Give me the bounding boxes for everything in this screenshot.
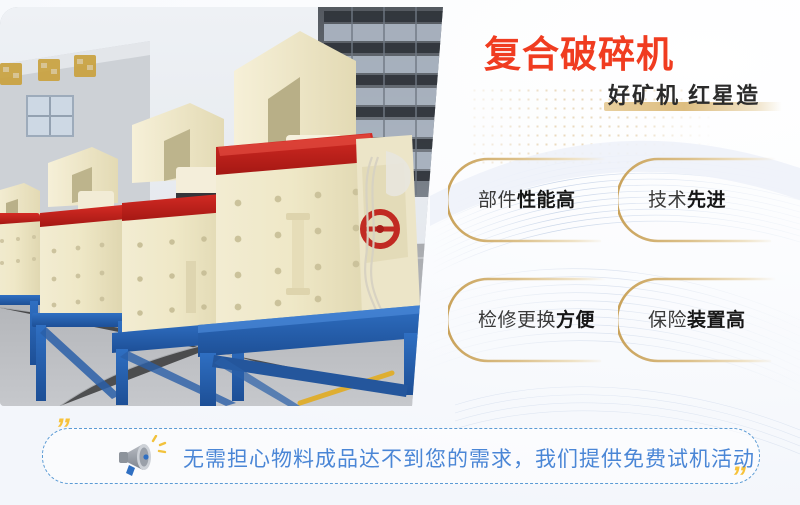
feature-label-3: 检修更换方便 [478,305,595,332]
product-photo [0,7,447,406]
feature-item-4[interactable]: 保险装置高 [618,276,783,364]
quote-open-icon: ” [55,415,68,445]
feature-prefix-4: 保险 [648,310,687,331]
promo-banner-stage: 复合破碎机 好矿机 红星造 部件性能高 [0,0,800,505]
feature-label-2: 技术先进 [648,185,726,212]
feature-label-1: 部件性能高 [478,185,576,212]
page-subtitle: 好矿机 红星造 [608,78,760,110]
feature-strong-2: 先进 [687,190,726,211]
banner-text: 无需担心物料成品达不到您的需求，我们提供免费试机活动 [183,443,755,473]
megaphone-icon [113,435,171,479]
feature-label-4: 保险装置高 [648,305,746,332]
promo-banner[interactable]: ” ” 无需担心 [42,428,760,484]
page-title: 复合破碎机 [484,24,674,78]
feature-item-3[interactable]: 检修更换方便 [448,276,613,364]
feature-strong-4: 装置高 [687,310,746,331]
feature-strong-3: 方便 [556,310,595,331]
feature-prefix-2: 技术 [648,190,687,211]
feature-prefix-3: 检修更换 [478,310,556,331]
feature-item-1[interactable]: 部件性能高 [448,156,613,244]
subtitle-group: 好矿机 红星造 [608,78,760,110]
feature-item-2[interactable]: 技术先进 [618,156,783,244]
feature-strong-1: 性能高 [517,190,576,211]
feature-prefix-1: 部件 [478,190,517,211]
